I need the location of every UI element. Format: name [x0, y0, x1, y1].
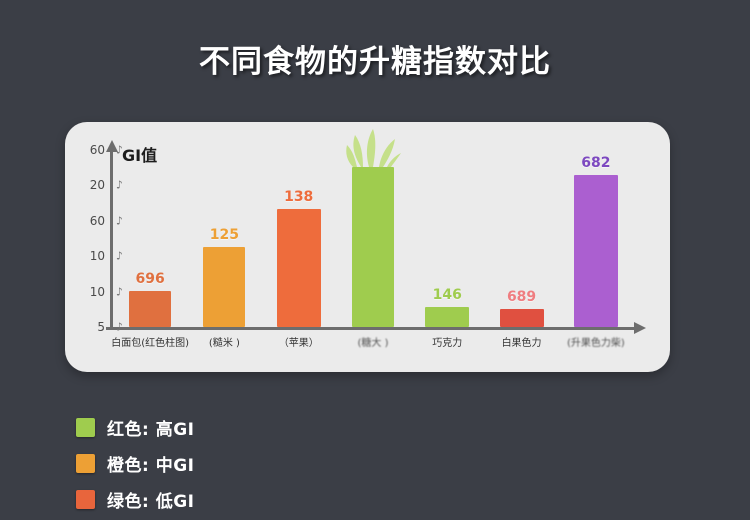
bar-column[interactable]: 696	[129, 271, 171, 327]
bar-value-label: 138	[284, 189, 313, 205]
bar[interactable]	[203, 247, 245, 327]
bar-value-label: 696	[136, 271, 165, 287]
chart-legend: 红色: 高GI橙色: 中GI绿色: 低GI	[76, 412, 195, 520]
y-axis-tick-label: 60	[75, 143, 105, 157]
legend-item-label: 红色: 高GI	[107, 415, 195, 440]
y-axis-ticks: 60♪20♪60♪10♪10♪5♪	[65, 122, 105, 372]
bar-column[interactable]: 138	[277, 189, 321, 327]
x-axis-category-labels: 白面包(红色柱图)(糙米 )（苹果）(糖大 )巧克力白果色力(升果色力柴)	[113, 334, 633, 360]
bar-value-label: 125	[210, 227, 239, 243]
leafy-vegetable-decoration	[345, 129, 401, 167]
bar[interactable]	[425, 307, 469, 327]
bar-column[interactable]: 125	[203, 227, 245, 327]
page-title: 不同食物的升糖指数对比	[0, 36, 750, 81]
bar[interactable]	[500, 309, 544, 327]
legend-item-label: 橙色: 中GI	[107, 451, 195, 476]
legend-item-label: 绿色: 低GI	[107, 487, 195, 512]
legend-item[interactable]: 橙色: 中GI	[76, 448, 195, 478]
legend-color-swatch	[76, 454, 95, 473]
bar-value-label: 689	[507, 289, 536, 305]
x-axis-category-label: (糖大 )	[358, 334, 389, 349]
y-axis-tick-label: 10	[75, 249, 105, 263]
x-axis-category-label: (升果色力柴)	[567, 334, 625, 349]
bar-column[interactable]: 689	[500, 289, 544, 327]
legend-color-swatch	[76, 490, 95, 509]
bar-value-label: 682	[581, 155, 610, 171]
x-axis-category-label: (糙米 )	[209, 334, 240, 349]
bar[interactable]	[574, 175, 618, 327]
bar-column[interactable]: 146	[425, 287, 469, 327]
bar-column[interactable]: 682	[574, 155, 618, 327]
x-axis-category-label: 白果色力	[502, 334, 542, 349]
bar[interactable]	[129, 291, 171, 327]
y-axis-tick-label: 5	[75, 320, 105, 334]
bars-plot-area: 696125138146689682	[113, 146, 633, 327]
x-axis-category-label: 巧克力	[432, 334, 462, 349]
legend-item[interactable]: 红色: 高GI	[76, 412, 195, 442]
y-axis-tick-label: 10	[75, 285, 105, 299]
x-axis-line	[106, 327, 636, 330]
legend-color-swatch	[76, 418, 95, 437]
y-axis-tick-label: 20	[75, 178, 105, 192]
bar-value-label: 146	[433, 287, 462, 303]
x-axis-category-label: 白面包(红色柱图)	[111, 334, 189, 349]
legend-item[interactable]: 绿色: 低GI	[76, 484, 195, 514]
x-axis-arrow-icon	[634, 322, 646, 334]
chart-card: GI值 60♪20♪60♪10♪10♪5♪ 696125138146689682…	[65, 122, 670, 372]
bar[interactable]	[352, 167, 394, 327]
chart-card-inner: GI值 60♪20♪60♪10♪10♪5♪ 696125138146689682…	[65, 122, 670, 372]
y-axis-tick-label: 60	[75, 214, 105, 228]
x-axis-category-label: （苹果）	[279, 334, 319, 349]
bar-column[interactable]	[352, 167, 394, 327]
bar[interactable]	[277, 209, 321, 327]
